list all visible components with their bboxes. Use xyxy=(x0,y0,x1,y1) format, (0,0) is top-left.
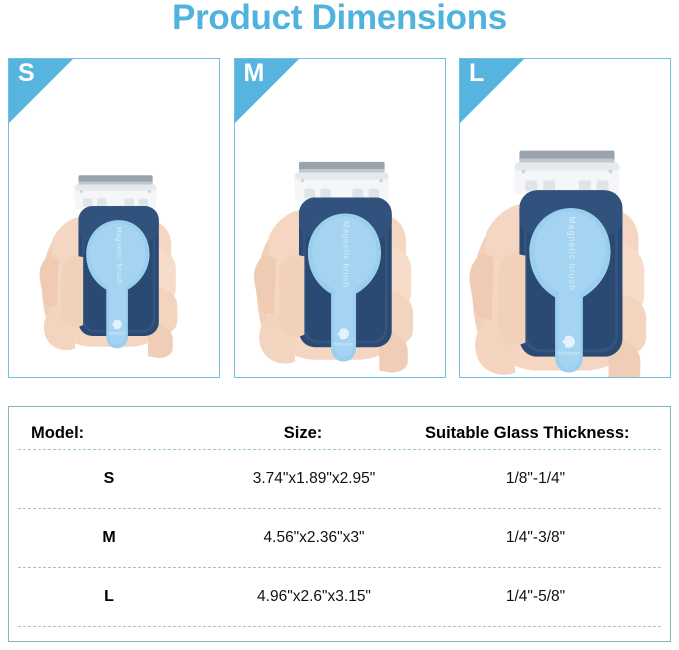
brand-text-m: fishkeeper xyxy=(333,341,354,346)
size-badge-label-s: S xyxy=(18,61,35,86)
size-badge-label-l: L xyxy=(469,61,484,86)
specification-table: Model: Size: Suitable Glass Thickness: S… xyxy=(8,406,671,642)
table-row: M 4.56"x2.36"x3" 1/4"-3/8" xyxy=(9,509,670,567)
column-header-model: Model: xyxy=(9,424,209,443)
scraper-blade xyxy=(514,151,619,195)
product-panels: S xyxy=(8,58,671,378)
product-panel-m: M xyxy=(234,58,446,378)
page-title: Product Dimensions xyxy=(0,0,679,38)
brand-text-s: fishkeeper xyxy=(108,331,127,335)
table-header-row: Model: Size: Suitable Glass Thickness: xyxy=(9,407,670,449)
cell-size: 4.96"x2.6"x3.15" xyxy=(209,588,419,606)
table-row: S 3.74"x1.89"x2.95" 1/8"-1/4" xyxy=(9,450,670,508)
product-panel-s: S xyxy=(8,58,220,378)
cell-size: 3.74"x1.89"x2.95" xyxy=(209,470,419,488)
cell-thickness: 1/8"-1/4" xyxy=(419,470,670,488)
column-header-thickness: Suitable Glass Thickness: xyxy=(419,424,670,443)
cell-model: S xyxy=(9,470,209,488)
handle-text-l: Magnetic brush xyxy=(567,216,577,291)
column-header-size: Size: xyxy=(209,424,419,443)
handle-text-s: Magnetic brush xyxy=(115,226,122,284)
scraper-blade xyxy=(75,175,157,209)
scraper-blade xyxy=(294,162,389,201)
cell-size: 4.56"x2.36"x3" xyxy=(209,529,419,547)
table-row: L 4.96"x2.6"x3.15" 1/4"-5/8" xyxy=(9,568,670,626)
cell-model: M xyxy=(9,529,209,547)
brand-text-l: fishkeeper xyxy=(558,351,581,357)
cell-thickness: 1/4"-5/8" xyxy=(419,588,670,606)
cell-thickness: 1/4"-3/8" xyxy=(419,529,670,547)
product-panel-l: L xyxy=(459,58,671,378)
handle-text-m: Magnetic brush xyxy=(341,221,350,288)
table-divider xyxy=(18,626,661,627)
size-badge-label-m: M xyxy=(244,61,265,86)
cell-model: L xyxy=(9,588,209,606)
